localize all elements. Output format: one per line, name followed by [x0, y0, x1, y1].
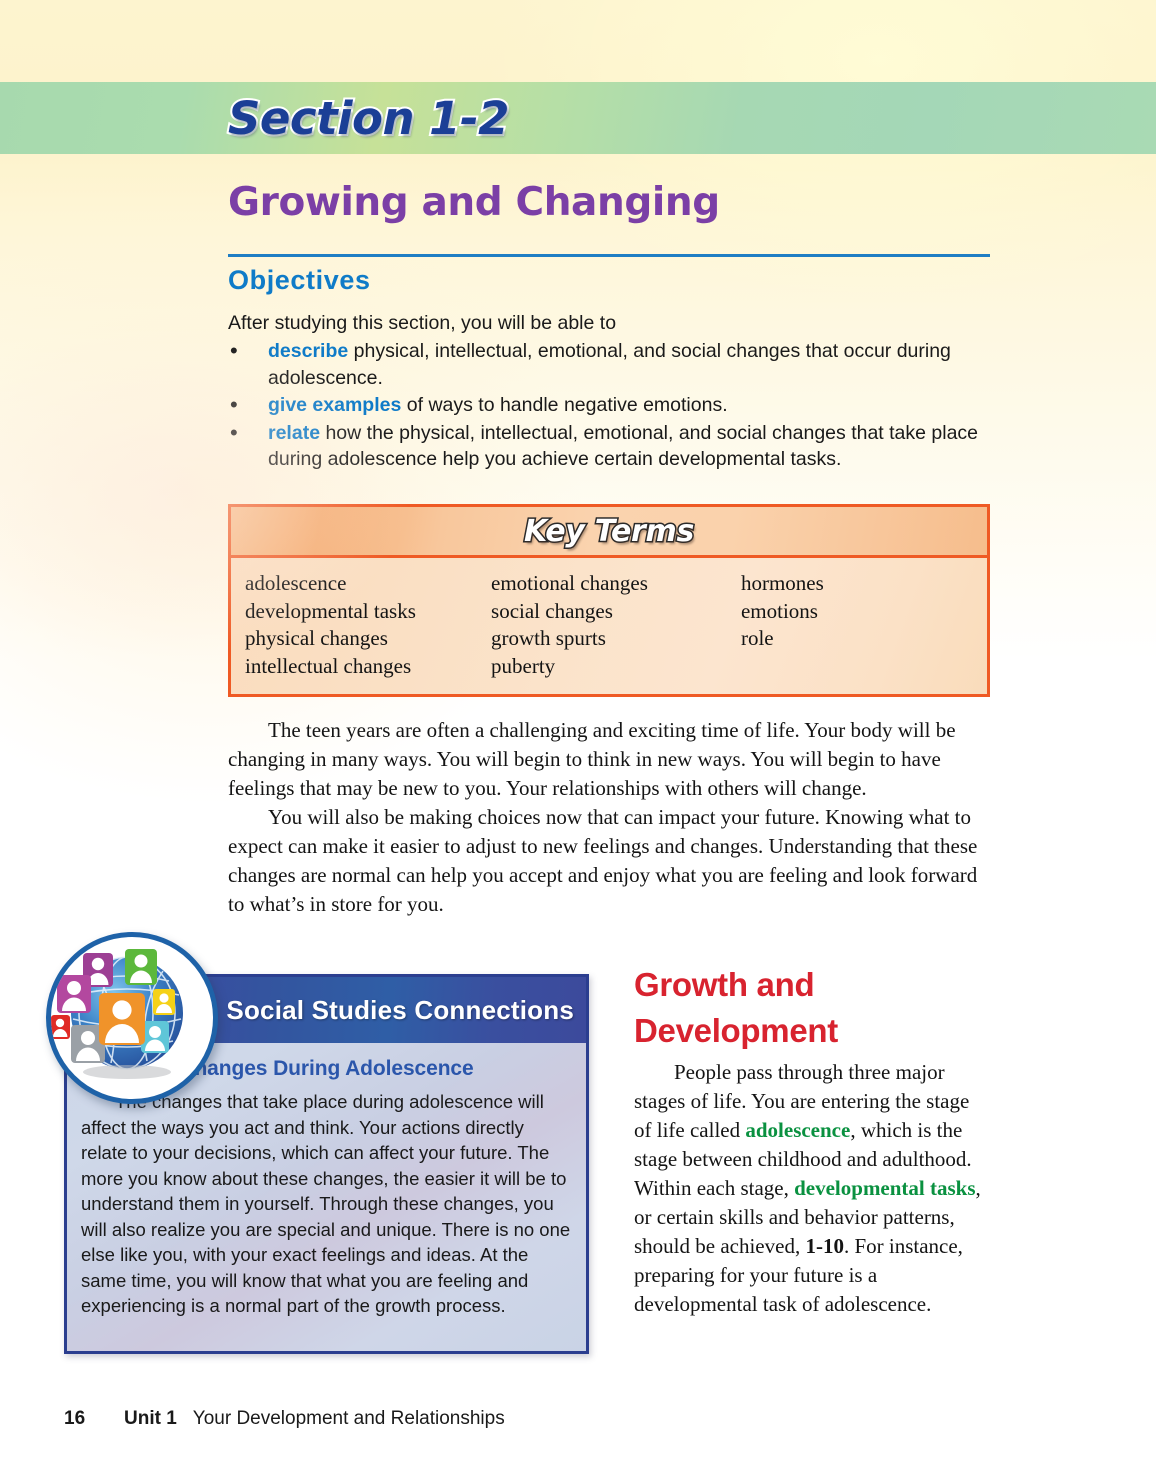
body-copy: The teen years are often a challenging a… — [228, 716, 996, 919]
bullet-icon: • — [228, 420, 268, 473]
textbook-page: Section 1-2 Growing and Changing Objecti… — [0, 0, 1156, 1476]
page-number: 16 — [64, 1408, 124, 1430]
growth-and-development-text: People pass through three major stages o… — [634, 1058, 990, 1319]
glossary-term-adolescence: adolescence — [745, 1118, 850, 1142]
body-paragraph: You will also be making choices now that… — [228, 803, 996, 919]
objective-item: • describe physical, intellectual, emoti… — [228, 338, 996, 391]
key-term: emotions — [741, 598, 987, 626]
section-band — [0, 82, 1156, 154]
footer-unit: Unit 1 — [124, 1408, 177, 1430]
objective-body: physical, intellectual, emotional, and s… — [268, 340, 951, 389]
glossary-term-developmental-tasks: developmental tasks — [794, 1176, 975, 1200]
footer-unit-title: Your Development and Relationships — [193, 1408, 505, 1430]
objectives-heading: Objectives — [228, 265, 371, 296]
objective-item: • relate how the physical, intellectual,… — [228, 420, 996, 473]
objective-item: • give examples of ways to handle negati… — [228, 392, 996, 419]
objective-text: describe physical, intellectual, emotion… — [268, 338, 996, 391]
key-term: role — [741, 625, 987, 653]
key-term: intellectual changes — [245, 653, 491, 681]
growth-and-development-heading: Growth and Development — [634, 962, 994, 1054]
figure-reference: 1-10 — [805, 1234, 844, 1258]
key-terms-title: Key Terms — [524, 514, 694, 549]
key-terms-column: hormones emotions role — [741, 570, 987, 680]
key-terms-column: emotional changes social changes growth … — [491, 570, 741, 680]
section-label: Section 1-2 — [228, 92, 509, 145]
objective-text: give examples of ways to handle negative… — [268, 392, 996, 419]
objective-body: how the physical, intellectual, emotiona… — [268, 422, 978, 471]
key-terms-box: Key Terms adolescence developmental task… — [228, 504, 990, 697]
objective-keyword: relate — [268, 422, 320, 444]
key-terms-column: adolescence developmental tasks physical… — [245, 570, 491, 680]
feature-header-title: Social Studies Connections — [226, 995, 574, 1026]
page-footer: 16 Unit 1 Your Development and Relations… — [64, 1408, 505, 1430]
objective-keyword: describe — [268, 340, 348, 362]
objectives-list: • describe physical, intellectual, emoti… — [228, 338, 996, 474]
objectives-divider — [228, 254, 990, 257]
key-term: developmental tasks — [245, 598, 491, 626]
key-terms-body: adolescence developmental tasks physical… — [231, 558, 987, 694]
objectives-intro: After studying this section, you will be… — [228, 310, 998, 336]
key-term: puberty — [491, 653, 741, 681]
key-term: emotional changes — [491, 570, 741, 598]
body-paragraph: The teen years are often a challenging a… — [228, 716, 996, 803]
key-term: growth spurts — [491, 625, 741, 653]
key-term: hormones — [741, 570, 987, 598]
key-term: social changes — [491, 598, 741, 626]
objective-text: relate how the physical, intellectual, e… — [268, 420, 996, 473]
key-term: adolescence — [245, 570, 491, 598]
social-studies-globe-people-icon — [46, 932, 218, 1104]
feature-body-text: The changes that take place during adole… — [67, 1081, 586, 1319]
bullet-icon: • — [228, 392, 268, 419]
key-terms-header: Key Terms — [231, 507, 987, 558]
bullet-icon: • — [228, 338, 268, 391]
objective-keyword: give examples — [268, 394, 401, 416]
objective-body: of ways to handle negative emotions. — [401, 394, 727, 416]
page-title: Growing and Changing — [228, 180, 720, 225]
key-term: physical changes — [245, 625, 491, 653]
